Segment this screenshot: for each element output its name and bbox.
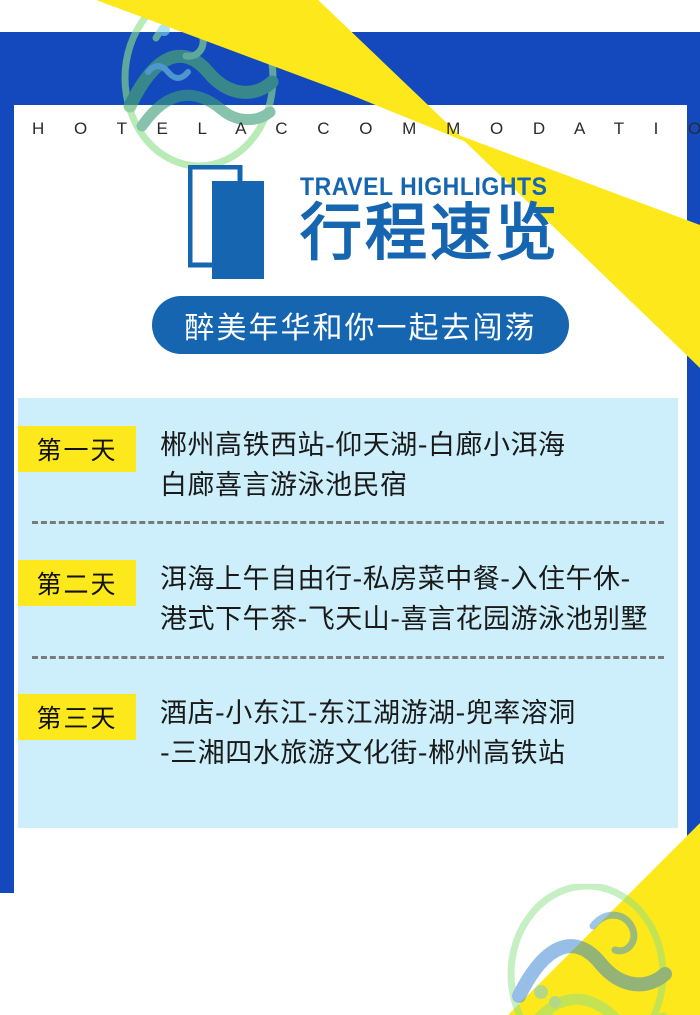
itinerary-row-day1: 第一天 郴州高铁西站-仰天湖-白廊小洱海 白廊喜言游泳池民宿 [18,426,678,506]
day2-line2: 港式下午茶-飞天山-喜言花园游泳池别墅 [160,600,648,640]
day-lines-3: 酒店-小东江-东江湖游湖-兜率溶洞 -三湘四水旅游文化街-郴州高铁站 [160,694,576,774]
separator-2 [32,656,664,659]
itinerary-panel: 第一天 郴州高铁西站-仰天湖-白廊小洱海 白廊喜言游泳池民宿 第二天 洱海上午自… [18,398,678,828]
day-lines-2: 洱海上午自由行-私房菜中餐-入住午休- 港式下午茶-飞天山-喜言花园游泳池别墅 [160,560,648,640]
itinerary-row-day3: 第三天 酒店-小东江-东江湖游湖-兜率溶洞 -三湘四水旅游文化街-郴州高铁站 [18,694,678,774]
title-chinese: 行程速览 [300,202,560,264]
tagline-text: 醉美年华和你一起去闯荡 [185,303,537,347]
day3-line1: 酒店-小东江-东江湖游湖-兜率溶洞 [160,694,576,734]
day1-line2: 白廊喜言游泳池民宿 [160,466,566,506]
day2-line1: 洱海上午自由行-私房菜中餐-入住午休- [160,560,648,600]
suitcase-icon [188,165,266,281]
title-block: TRAVEL HIGHLIGHTS 行程速览 [188,160,608,290]
day-badge-3: 第三天 [18,694,136,740]
day1-line1: 郴州高铁西站-仰天湖-白廊小洱海 [160,426,566,466]
mountain-cloud-logo-bottom [497,884,677,1015]
eyebrow-hotel-accommodation: H O T E L A C C O M M O D A T I O N [32,119,700,139]
day-badge-2: 第二天 [18,560,136,606]
separator-1 [32,521,664,524]
travel-itinerary-poster: H O T E L A C C O M M O D A T I O N TRAV… [0,0,700,1015]
tagline-banner: 醉美年华和你一起去闯荡 [152,296,569,354]
day-badge-1: 第一天 [18,426,136,472]
itinerary-row-day2: 第二天 洱海上午自由行-私房菜中餐-入住午休- 港式下午茶-飞天山-喜言花园游泳… [18,560,678,640]
day3-line2: -三湘四水旅游文化街-郴州高铁站 [160,734,576,774]
day-lines-1: 郴州高铁西站-仰天湖-白廊小洱海 白廊喜言游泳池民宿 [160,426,566,506]
